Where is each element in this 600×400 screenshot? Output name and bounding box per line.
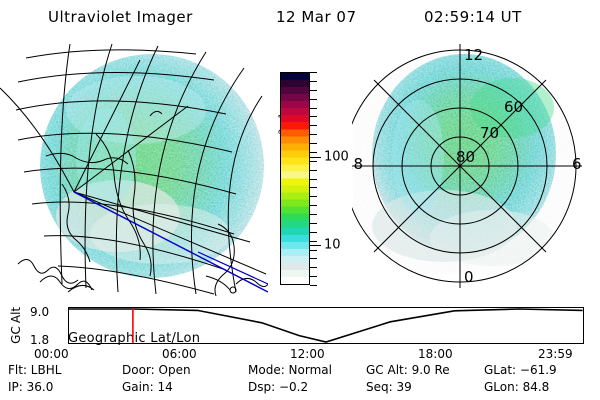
colorbar-minor-tick bbox=[310, 258, 317, 259]
colorbar-minor-tick bbox=[310, 276, 317, 277]
status-door: Door: Open bbox=[122, 363, 191, 377]
colorbar-minor-tick bbox=[310, 187, 317, 188]
status-dsp: Dsp: −0.2 bbox=[248, 380, 308, 394]
status-footer: Flt: LBHL Door: Open Mode: Normal GC Alt… bbox=[0, 363, 600, 399]
colorbar-gradient bbox=[281, 73, 309, 284]
status-gc-alt: GC Alt: 9.0 Re bbox=[366, 363, 450, 377]
mlt-panel[interactable]: 12 18 6 0 60 70 80 Apex MLat/MLT bbox=[352, 38, 600, 296]
header: Ultraviolet Imager 12 Mar 07 02:59:14 UT bbox=[0, 4, 600, 32]
orbit-xtick-4: 23:59 bbox=[538, 347, 573, 361]
orbit-ytick-min: 1.8 bbox=[30, 333, 49, 347]
colorbar-minor-tick bbox=[310, 116, 317, 117]
colorbar-minor-tick bbox=[310, 196, 317, 197]
colorbar-minor-tick bbox=[310, 108, 317, 109]
colorbar-minor-tick bbox=[310, 81, 317, 82]
colorbar-tick-label: 10 bbox=[324, 238, 341, 251]
orbit-altitude-strip[interactable]: Alt GC 9.0 1.8 00:00 06:00 12:00 18:00 2… bbox=[0, 300, 600, 360]
status-flight: Flt: LBHL bbox=[8, 363, 61, 377]
mlt-label-0: 0 bbox=[464, 268, 474, 286]
colorbar-major-tick bbox=[310, 157, 321, 158]
colorbar-ticks: 10010 bbox=[310, 72, 354, 285]
orbit-altitude-curve bbox=[69, 308, 583, 343]
observation-time: 02:59:14 UT bbox=[424, 8, 522, 26]
colorbar-minor-tick bbox=[310, 125, 317, 126]
orbit-xtick-0: 00:00 bbox=[34, 347, 69, 361]
colorbar-minor-tick bbox=[310, 250, 317, 251]
geographic-panel[interactable]: Geographic Lat/Lon bbox=[0, 38, 268, 296]
colorbar-minor-tick bbox=[310, 143, 317, 144]
mlat-label-70: 70 bbox=[480, 124, 499, 142]
colorbar-minor-tick bbox=[310, 134, 317, 135]
orbit-ylabel-gc: GC bbox=[9, 315, 23, 355]
colorbar-tick-label: 100 bbox=[324, 151, 349, 164]
status-gain: Gain: 14 bbox=[122, 380, 173, 394]
colorbar-minor-tick bbox=[310, 267, 317, 268]
instrument-title: Ultraviolet Imager bbox=[48, 8, 193, 26]
mlt-polar-plot: 12 18 6 0 60 70 80 bbox=[352, 38, 600, 296]
colorbar-minor-tick bbox=[310, 90, 317, 91]
colorbar-minor-tick bbox=[310, 152, 317, 153]
orbit-xtick-2: 12:00 bbox=[290, 347, 325, 361]
colorbar-gradient-box bbox=[280, 72, 310, 285]
colorbar-minor-tick bbox=[310, 179, 317, 180]
colorbar-minor-tick bbox=[310, 232, 317, 233]
status-mode: Mode: Normal bbox=[248, 363, 332, 377]
geographic-plot bbox=[0, 38, 268, 296]
orbit-ytick-max: 9.0 bbox=[30, 305, 49, 319]
colorbar-minor-tick bbox=[310, 223, 317, 224]
aurora-emission-geo bbox=[40, 54, 264, 278]
colorbar-minor-tick bbox=[310, 161, 317, 162]
status-glon: GLon: 84.8 bbox=[484, 380, 549, 394]
orbit-xtick-3: 18:00 bbox=[418, 347, 453, 361]
mlt-label-18: 18 bbox=[352, 155, 363, 173]
orbit-xtick-1: 06:00 bbox=[162, 347, 197, 361]
mlat-label-80: 80 bbox=[456, 148, 475, 166]
uvi-display: Ultraviolet Imager 12 Mar 07 02:59:14 UT bbox=[0, 0, 600, 400]
colorbar-minor-tick bbox=[310, 170, 317, 171]
mlat-label-60: 60 bbox=[504, 98, 523, 116]
observation-date: 12 Mar 07 bbox=[276, 8, 357, 26]
orbit-plot-box bbox=[68, 307, 584, 344]
colorbar-minor-tick bbox=[310, 205, 317, 206]
colorbar-minor-tick bbox=[310, 285, 317, 286]
status-ip: IP: 36.0 bbox=[8, 380, 53, 394]
colorbar-minor-tick bbox=[310, 99, 317, 100]
mlt-label-12: 12 bbox=[464, 46, 483, 64]
colorbar-minor-tick bbox=[310, 72, 317, 73]
colorbar-minor-tick bbox=[310, 241, 317, 242]
status-glat: GLat: −61.9 bbox=[484, 363, 557, 377]
colorbar-minor-tick bbox=[310, 214, 317, 215]
mlt-label-6: 6 bbox=[572, 155, 582, 173]
colorbar: photon cm-2s-1 10010 bbox=[258, 60, 354, 300]
status-seq: Seq: 39 bbox=[366, 380, 412, 394]
colorbar-major-tick bbox=[310, 245, 321, 246]
